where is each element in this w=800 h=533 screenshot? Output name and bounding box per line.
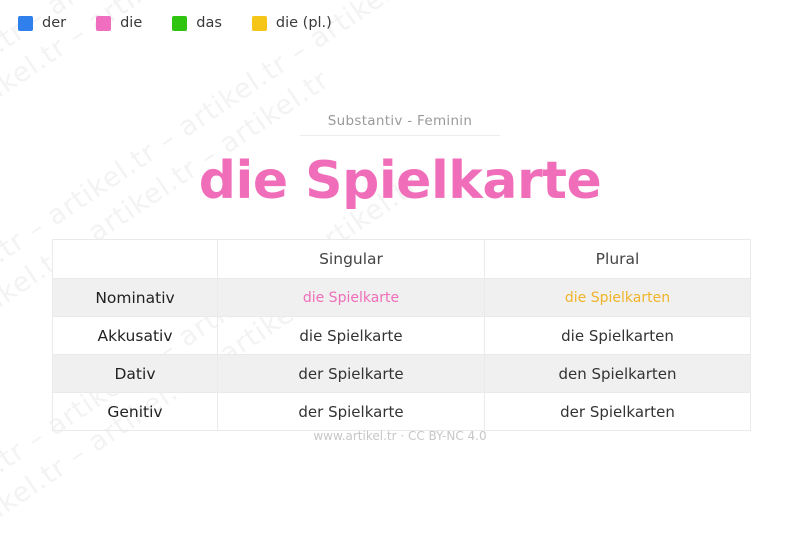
legend-item-der-0: der (18, 16, 66, 31)
cell-singular-form: die Spielkarte (218, 317, 485, 355)
table-row: Akkusativdie Spielkartedie Spielkarten (53, 317, 751, 355)
color-swatch-pink (96, 16, 111, 31)
color-swatch-gold (252, 16, 267, 31)
noun-declension-card: derdiedasdie (pl.) Substantiv - Feminin … (0, 0, 800, 533)
table-head: Singular Plural (53, 240, 751, 279)
legend-item-label: die (120, 16, 142, 31)
subtitle-divider (300, 135, 500, 136)
cell-case-name: Genitiv (53, 393, 218, 431)
cell-case-name: Nominativ (53, 279, 218, 317)
table-header-row: Singular Plural (53, 240, 751, 279)
legend-item-diepl-3: die (pl.) (252, 16, 332, 31)
cell-plural-form: der Spielkarten (485, 393, 751, 431)
legend-item-label: das (196, 16, 222, 31)
declension-table: Singular Plural Nominativdie Spielkarted… (52, 239, 751, 431)
cell-plural-form: die Spielkarten (485, 279, 751, 317)
cell-case-name: Dativ (53, 355, 218, 393)
cell-plural-form: die Spielkarten (485, 317, 751, 355)
page-title: die Spielkarte (0, 152, 800, 212)
column-header-case (53, 240, 218, 279)
article-color-legend: derdiedasdie (pl.) (18, 16, 362, 31)
table-row: Nominativdie Spielkartedie Spielkarten (53, 279, 751, 317)
cell-singular-form: der Spielkarte (218, 393, 485, 431)
color-swatch-blue (18, 16, 33, 31)
color-swatch-green (172, 16, 187, 31)
column-header-plural: Plural (485, 240, 751, 279)
legend-item-das-2: das (172, 16, 222, 31)
footer-attribution: www.artikel.tr · CC BY-NC 4.0 (0, 429, 800, 443)
table-row: Genitivder Spielkarteder Spielkarten (53, 393, 751, 431)
column-header-singular: Singular (218, 240, 485, 279)
cell-singular-form: der Spielkarte (218, 355, 485, 393)
legend-item-die-1: die (96, 16, 142, 31)
legend-item-label: der (42, 16, 66, 31)
cell-case-name: Akkusativ (53, 317, 218, 355)
legend-item-label: die (pl.) (276, 16, 332, 31)
cell-plural-form: den Spielkarten (485, 355, 751, 393)
table-body: Nominativdie Spielkartedie SpielkartenAk… (53, 279, 751, 431)
table-row: Dativder Spielkarteden Spielkarten (53, 355, 751, 393)
cell-singular-form: die Spielkarte (218, 279, 485, 317)
